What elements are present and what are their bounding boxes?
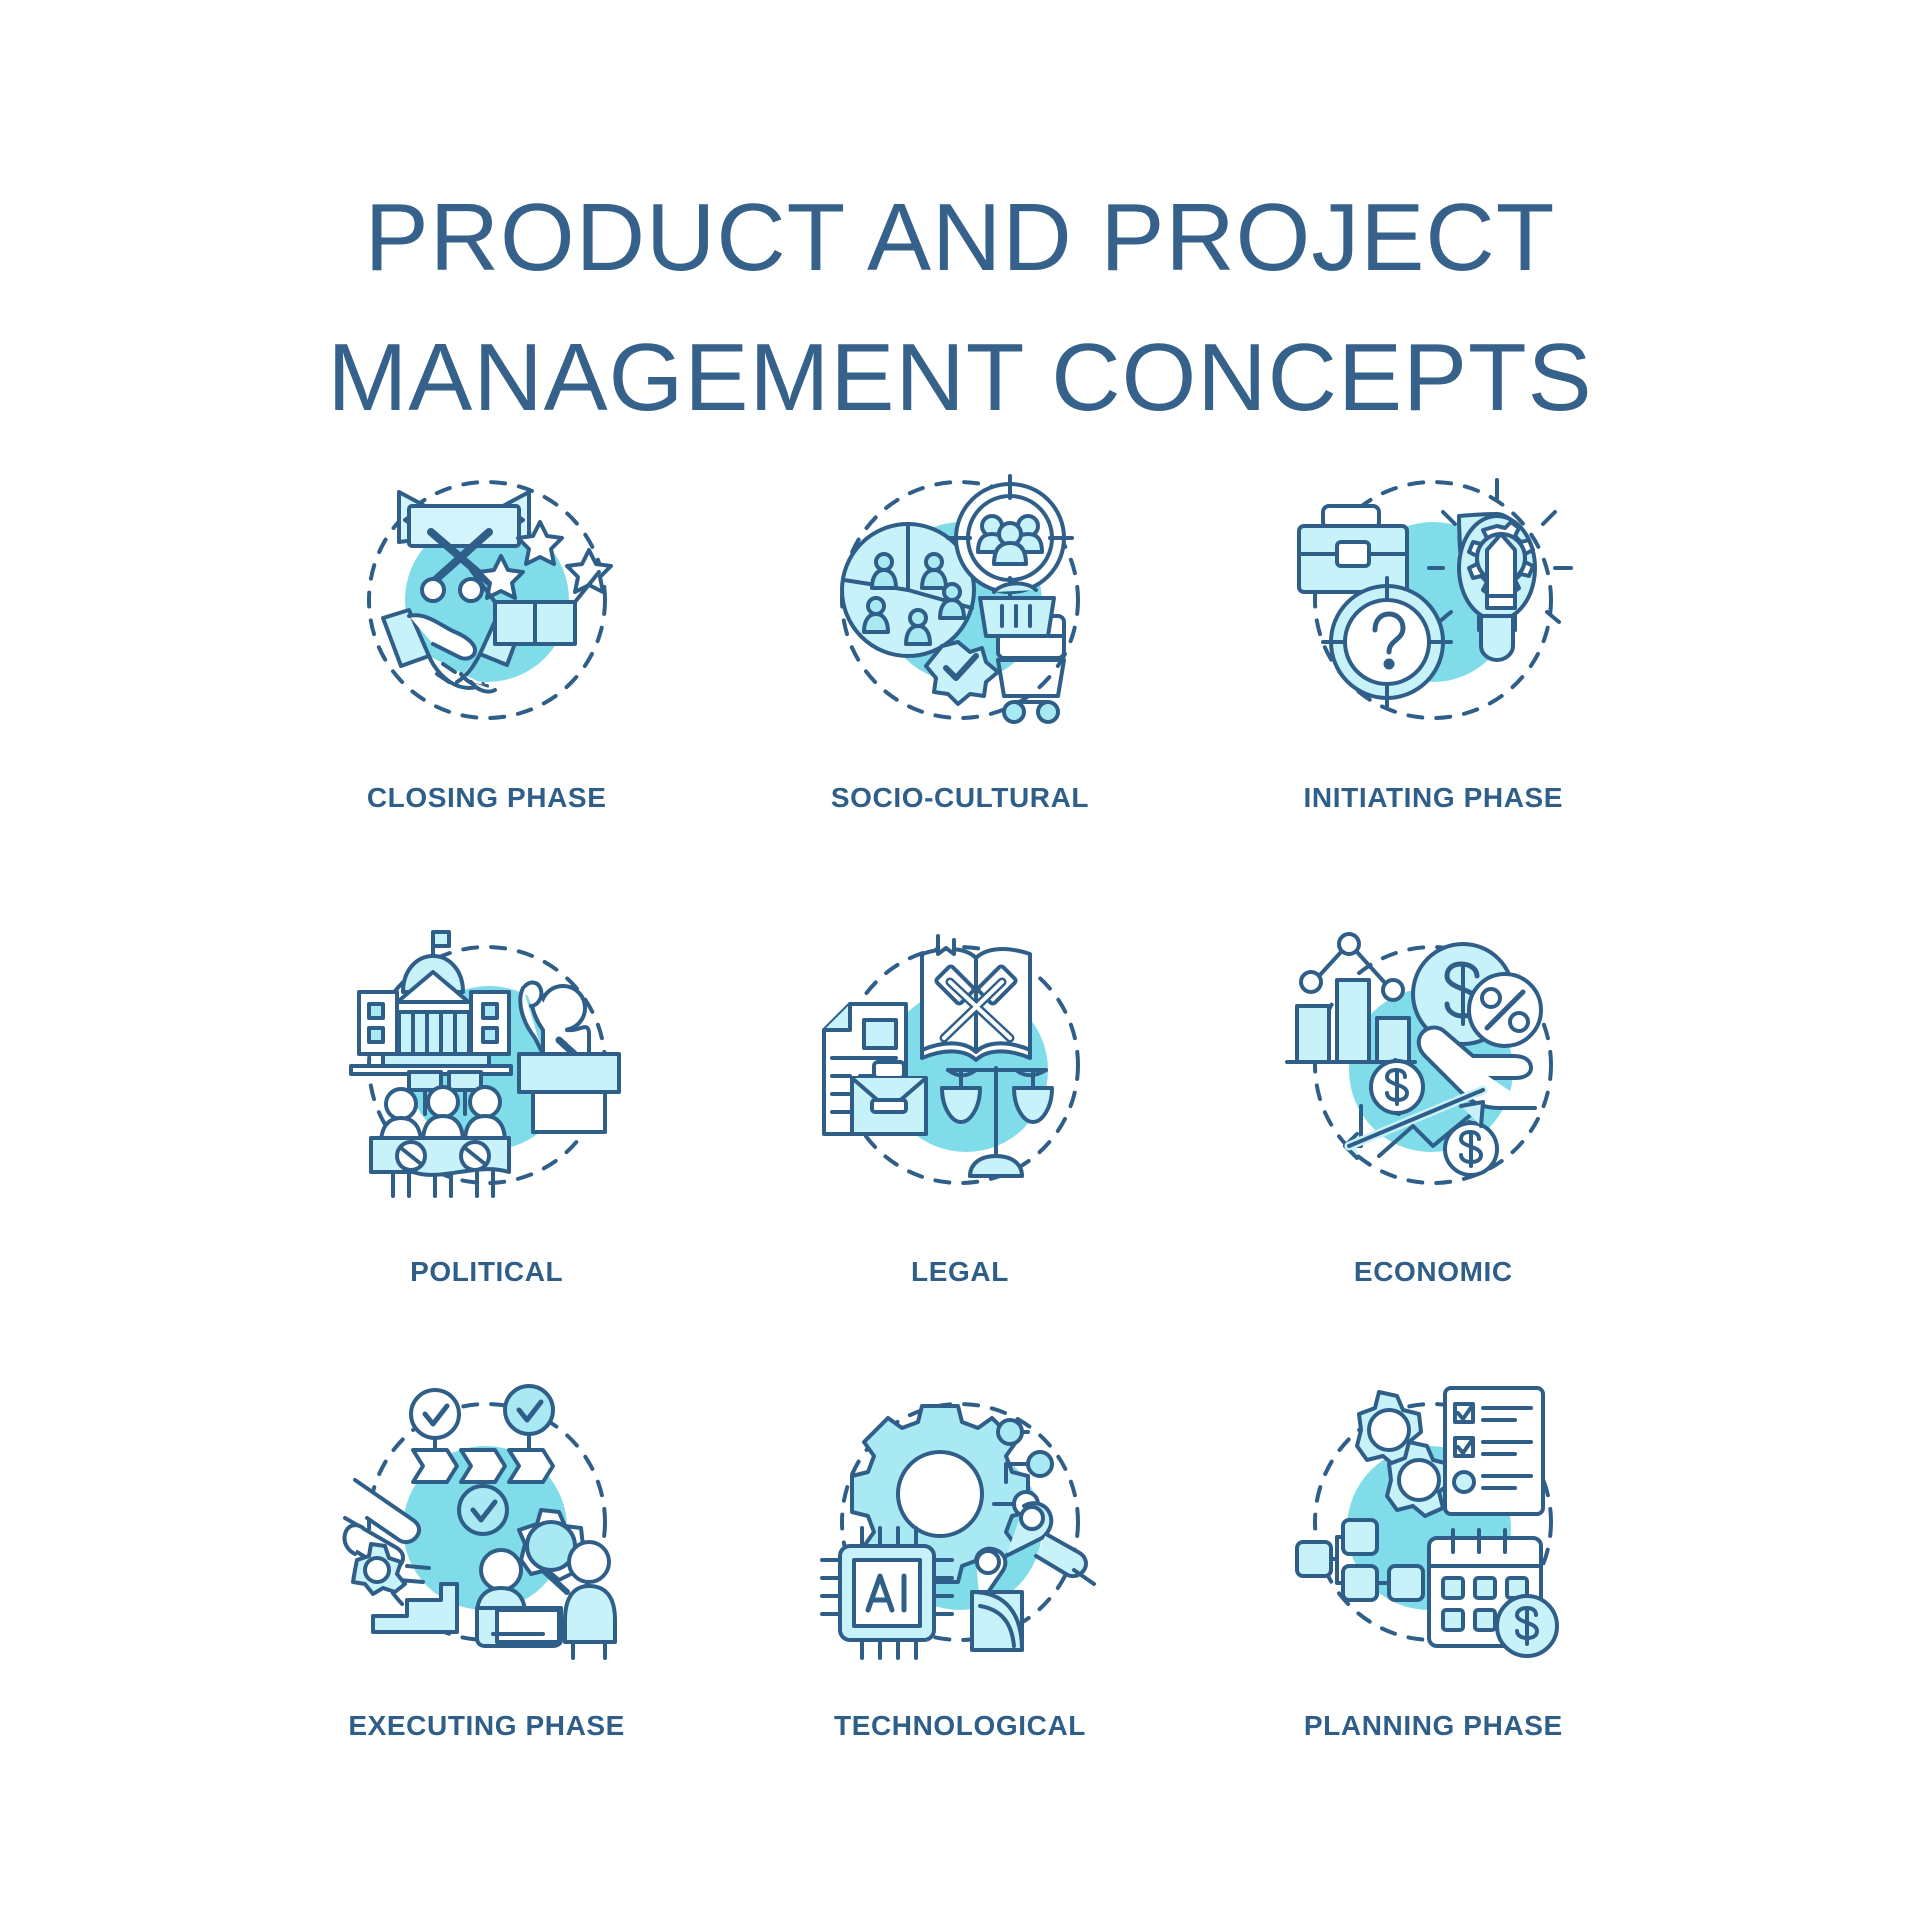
icon-card-socio-cultural[interactable]: SOCIO-CULTURAL — [723, 450, 1196, 910]
poster-root: PRODUCT AND PROJECT MANAGEMENT CONCEPTS — [0, 0, 1920, 1920]
icon-card-closing-phase[interactable]: CLOSING PHASE — [250, 450, 723, 910]
icon-card-political[interactable]: POLITICAL — [250, 910, 723, 1370]
icon-label-executing-phase: EXECUTING PHASE — [348, 1710, 625, 1742]
closing-phase-icon — [337, 450, 637, 750]
title-line-2: MANAGEMENT CONCEPTS — [230, 308, 1690, 448]
icon-card-economic[interactable]: ECONOMIC — [1197, 910, 1670, 1370]
initiating-phase-icon — [1283, 450, 1583, 750]
political-icon — [337, 910, 637, 1210]
icon-card-executing-phase[interactable]: EXECUTING PHASE — [250, 1370, 723, 1830]
planning-phase-icon — [1283, 1370, 1583, 1670]
icon-label-planning-phase: PLANNING PHASE — [1304, 1710, 1563, 1742]
technological-icon — [810, 1370, 1110, 1670]
icon-label-economic: ECONOMIC — [1354, 1256, 1513, 1288]
icon-card-technological[interactable]: TECHNOLOGICAL — [723, 1370, 1196, 1830]
icon-label-initiating-phase: INITIATING PHASE — [1304, 782, 1564, 814]
icon-label-legal: LEGAL — [911, 1256, 1009, 1288]
icon-label-closing-phase: CLOSING PHASE — [367, 782, 607, 814]
icon-card-legal[interactable]: LEGAL — [723, 910, 1196, 1370]
page-title: PRODUCT AND PROJECT MANAGEMENT CONCEPTS — [0, 168, 1920, 448]
title-line-1: PRODUCT AND PROJECT — [230, 168, 1690, 308]
icon-grid: CLOSING PHASE — [250, 450, 1670, 1830]
legal-icon — [810, 910, 1110, 1210]
economic-icon — [1283, 910, 1583, 1210]
executing-phase-icon — [337, 1370, 637, 1670]
icon-label-socio-cultural: SOCIO-CULTURAL — [831, 782, 1089, 814]
socio-cultural-icon — [810, 450, 1110, 750]
icon-card-initiating-phase[interactable]: INITIATING PHASE — [1197, 450, 1670, 910]
icon-label-political: POLITICAL — [410, 1256, 563, 1288]
icon-card-planning-phase[interactable]: PLANNING PHASE — [1197, 1370, 1670, 1830]
icon-label-technological: TECHNOLOGICAL — [834, 1710, 1086, 1742]
